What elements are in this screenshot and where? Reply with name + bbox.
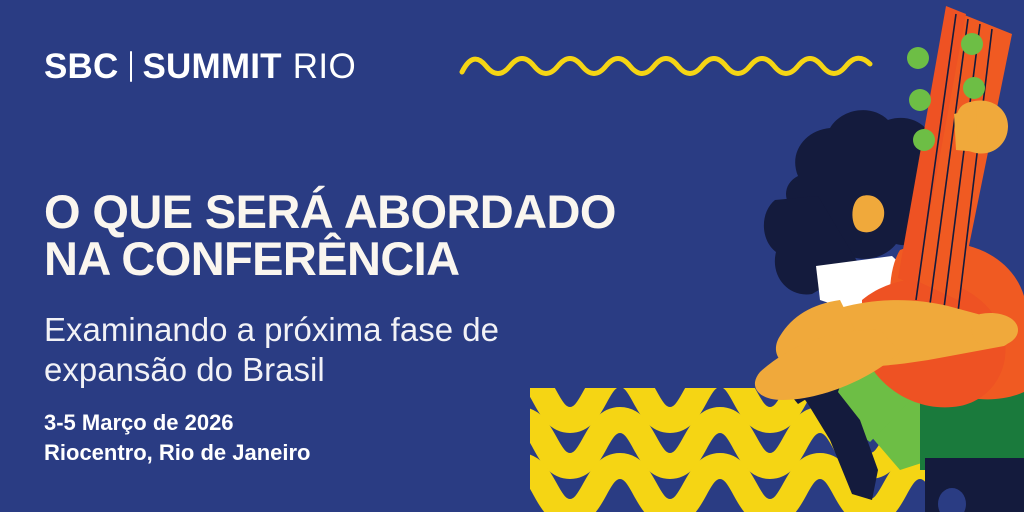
event-dates: 3-5 Março de 2026 xyxy=(44,408,311,438)
event-details: 3-5 Março de 2026 Riocentro, Rio de Jane… xyxy=(44,408,311,469)
headline-line-2: NA CONFERÊNCIA xyxy=(44,236,616,282)
page-subtitle: Examinando a próxima fase de expansão do… xyxy=(44,310,499,391)
page-title: O QUE SERÁ ABORDADO NA CONFERÊNCIA xyxy=(44,189,616,281)
subtitle-line-1: Examinando a próxima fase de xyxy=(44,310,499,350)
logo-divider xyxy=(130,51,132,82)
logo-brand-sbc: SBC xyxy=(44,49,119,84)
subtitle-line-2: expansão do Brasil xyxy=(44,350,499,390)
sbc-summit-rio-logo[interactable]: SBC SUMMIT RIO xyxy=(44,46,356,86)
headline-line-1: O QUE SERÁ ABORDADO xyxy=(44,189,616,235)
logo-edition-rio: RIO xyxy=(293,49,356,84)
event-banner: SBC SUMMIT RIO O QUE SERÁ ABORDADO NA CO… xyxy=(0,0,1024,512)
logo-product-summit: SUMMIT xyxy=(143,49,282,84)
event-venue: Riocentro, Rio de Janeiro xyxy=(44,438,311,468)
